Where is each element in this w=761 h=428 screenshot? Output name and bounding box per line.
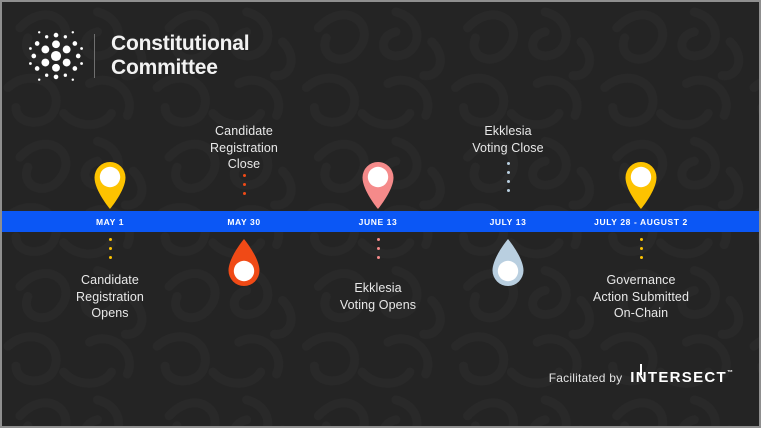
connector-dot <box>640 238 643 241</box>
brand-divider <box>94 34 95 78</box>
connector-dot <box>507 162 510 165</box>
milestone-caption: Ekklesia Voting Close <box>472 123 543 156</box>
connector-dot <box>377 256 380 259</box>
milestone-caption: Ekklesia Voting Opens <box>340 280 416 313</box>
connector-dot <box>640 256 643 259</box>
connector-dot <box>507 189 510 192</box>
timeline-date-label: MAY 1 <box>96 211 124 232</box>
connector-dot <box>377 238 380 241</box>
timeline-date-label: JULY 28 - AUGUST 2 <box>594 211 688 232</box>
slide-canvas: Constitutional Committee MAY 1MAY 30JUNE… <box>0 0 761 428</box>
intersect-mark-icon <box>640 364 642 375</box>
connector-dot <box>507 171 510 174</box>
milestone-connector-dots <box>506 162 510 192</box>
connector-dot <box>243 192 246 195</box>
milestone-caption: Governance Action Submitted On-Chain <box>593 272 689 322</box>
connector-dot <box>109 256 112 259</box>
connector-dot <box>243 183 246 186</box>
facilitated-by-label: Facilitated by <box>549 371 623 385</box>
milestone-pin-map-pin-icon[interactable] <box>356 154 400 210</box>
connector-dot <box>377 247 380 250</box>
timeline-bar: MAY 1MAY 30JUNE 13JULY 13JULY 28 - AUGUS… <box>2 211 759 232</box>
intersect-logo: INTERSECT ™ <box>630 369 733 386</box>
connector-dot <box>640 247 643 250</box>
brand-logo: Constitutional Committee <box>28 28 249 84</box>
milestone-connector-dots <box>108 238 112 259</box>
connector-dot <box>109 247 112 250</box>
milestone-pin-map-pin-icon[interactable] <box>486 238 530 294</box>
milestone-pin-map-pin-icon[interactable] <box>222 238 266 294</box>
connector-dot <box>243 174 246 177</box>
milestone-caption: Candidate Registration Close <box>210 123 278 173</box>
page-title: Constitutional Committee <box>111 32 249 79</box>
timeline-date-label: MAY 30 <box>227 211 260 232</box>
trademark-symbol: ™ <box>727 370 733 376</box>
milestone-pin-map-pin-icon[interactable] <box>88 154 132 210</box>
footer-attribution: Facilitated by INTERSECT ™ <box>549 369 733 386</box>
connector-dot <box>507 180 510 183</box>
milestone-connector-dots <box>242 174 246 195</box>
milestone-pin-map-pin-icon[interactable] <box>619 154 663 210</box>
timeline-date-label: JULY 13 <box>490 211 527 232</box>
milestone-caption: Candidate Registration Opens <box>76 272 144 322</box>
timeline-date-label: JUNE 13 <box>359 211 398 232</box>
cardano-dots-logo-icon <box>28 28 84 84</box>
milestone-connector-dots <box>376 238 380 259</box>
connector-dot <box>109 238 112 241</box>
milestone-connector-dots <box>639 238 643 259</box>
intersect-wordmark: INTERSECT <box>630 369 727 386</box>
